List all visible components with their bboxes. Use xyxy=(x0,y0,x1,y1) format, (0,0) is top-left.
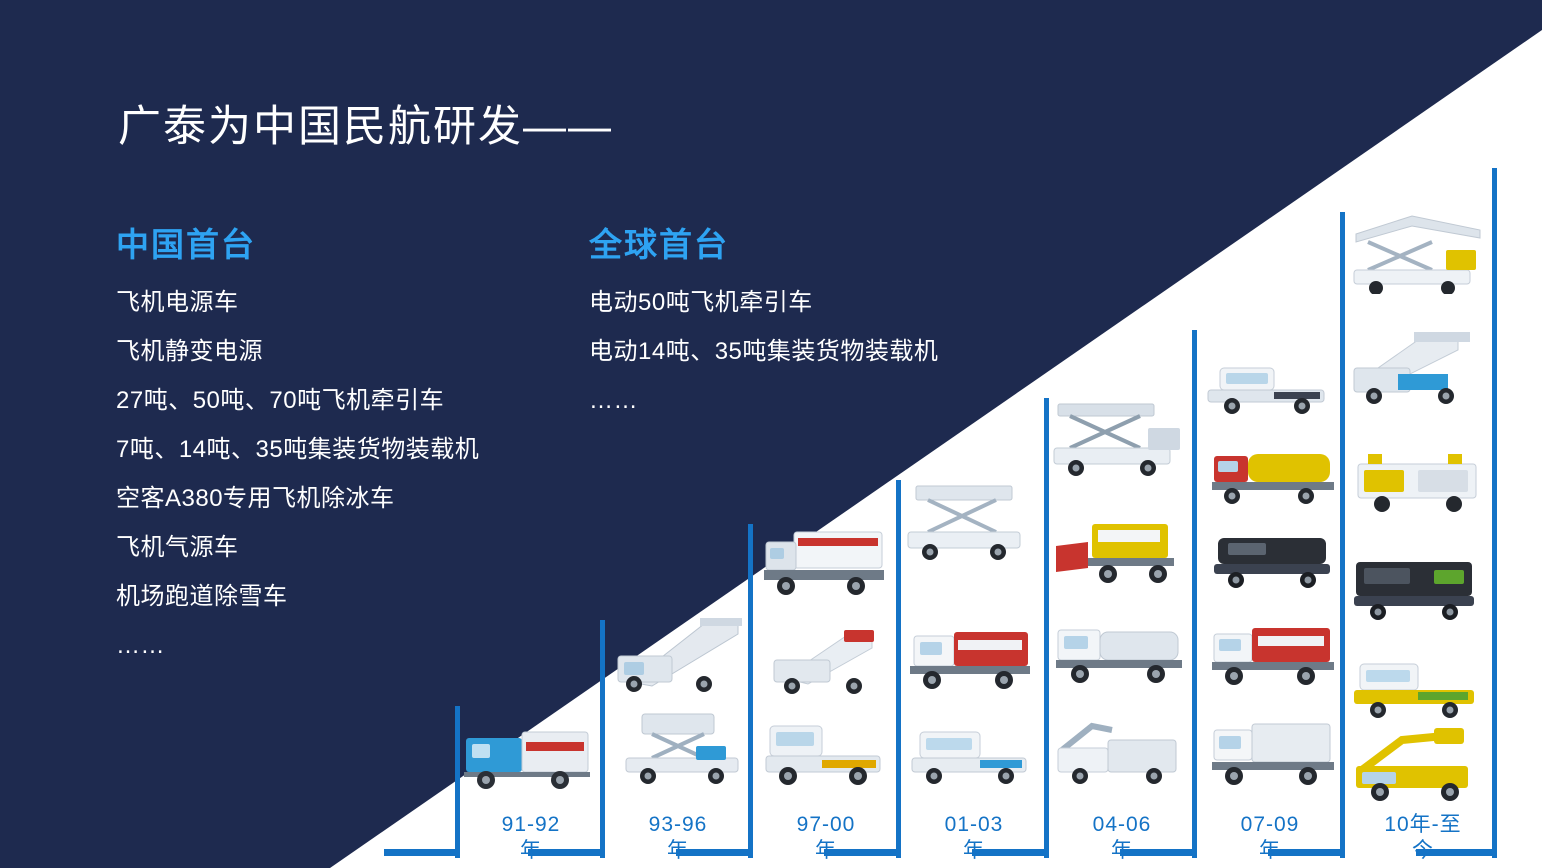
timeline-tick xyxy=(455,706,460,858)
timeline-label-bottom: 今 xyxy=(1353,838,1493,864)
timeline-label-91-92: 91-92 年 xyxy=(466,812,596,864)
timeline-label-97-00: 97-00 年 xyxy=(761,812,891,864)
timeline-tick xyxy=(1044,398,1049,858)
timeline-tick xyxy=(600,620,605,858)
timeline-label-top: 93-96 xyxy=(613,812,743,838)
timeline-label-bottom: 年 xyxy=(613,838,743,864)
timeline-label-01-03: 01-03 年 xyxy=(909,812,1039,864)
timeline: 91-92 年 93-96 年 97-00 年 01-03 年 04-06 年 … xyxy=(0,0,1542,868)
timeline-label-top: 97-00 xyxy=(761,812,891,838)
timeline-label-top: 04-06 xyxy=(1057,812,1187,838)
timeline-label-93-96: 93-96 年 xyxy=(613,812,743,864)
timeline-label-07-09: 07-09 年 xyxy=(1205,812,1335,864)
timeline-tick xyxy=(896,480,901,858)
timeline-label-top: 91-92 xyxy=(466,812,596,838)
timeline-tick xyxy=(1192,330,1197,858)
timeline-label-bottom: 年 xyxy=(1205,838,1335,864)
timeline-label-bottom: 年 xyxy=(909,838,1039,864)
timeline-axis-segment xyxy=(384,849,458,856)
timeline-label-04-06: 04-06 年 xyxy=(1057,812,1187,864)
timeline-label-bottom: 年 xyxy=(1057,838,1187,864)
timeline-label-bottom: 年 xyxy=(761,838,891,864)
timeline-tick xyxy=(1340,212,1345,858)
timeline-tick xyxy=(1492,168,1497,858)
timeline-tick xyxy=(748,524,753,858)
timeline-label-bottom: 年 xyxy=(466,838,596,864)
timeline-label-top: 07-09 xyxy=(1205,812,1335,838)
timeline-label-10-present: 10年-至 今 xyxy=(1353,812,1493,864)
timeline-label-top: 01-03 xyxy=(909,812,1039,838)
timeline-label-top: 10年-至 xyxy=(1353,812,1493,838)
